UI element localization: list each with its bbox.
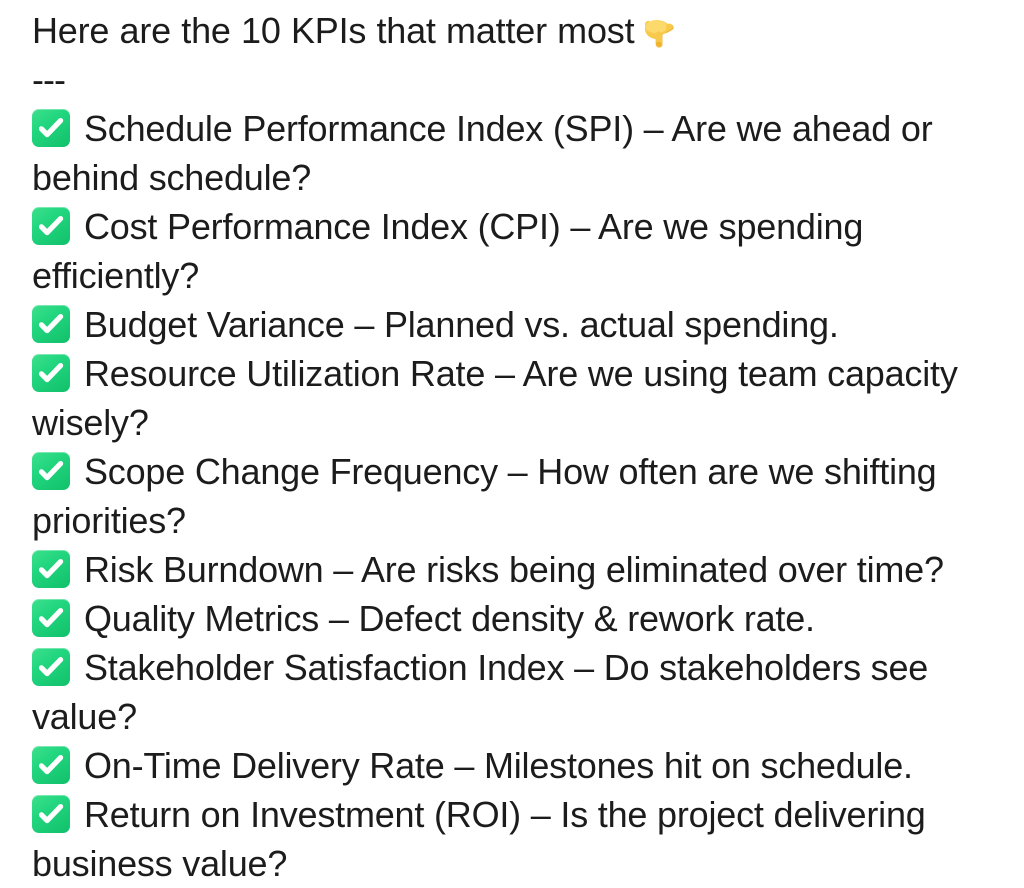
list-item-text: Quality Metrics – Defect density & rewor… xyxy=(84,598,815,639)
list-item-text: Budget Variance – Planned vs. actual spe… xyxy=(84,304,839,345)
list-item-text: Risk Burndown – Are risks being eliminat… xyxy=(84,549,944,590)
list-item-text: Cost Performance Index (CPI) – Are we sp… xyxy=(32,206,863,296)
list-item: On-Time Delivery Rate – Milestones hit o… xyxy=(32,741,996,790)
list-item: Schedule Performance Index (SPI) – Are w… xyxy=(32,104,996,202)
white-check-mark-icon xyxy=(32,746,70,784)
list-item: Quality Metrics – Defect density & rewor… xyxy=(32,594,996,643)
post-headline: Here are the 10 KPIs that matter most xyxy=(32,6,996,55)
list-item-text: On-Time Delivery Rate – Milestones hit o… xyxy=(84,745,913,786)
white-check-mark-icon xyxy=(32,452,70,490)
list-item-text: Return on Investment (ROI) – Is the proj… xyxy=(32,794,926,884)
list-item: Return on Investment (ROI) – Is the proj… xyxy=(32,790,996,888)
white-check-mark-icon xyxy=(32,207,70,245)
text-divider: --- xyxy=(32,55,996,104)
list-item-text: Scope Change Frequency – How often are w… xyxy=(32,451,937,541)
white-check-mark-icon xyxy=(32,354,70,392)
white-check-mark-icon xyxy=(32,599,70,637)
white-check-mark-icon xyxy=(32,795,70,833)
list-item: Scope Change Frequency – How often are w… xyxy=(32,447,996,545)
backhand-index-pointing-down-icon xyxy=(640,10,682,52)
white-check-mark-icon xyxy=(32,648,70,686)
post-headline-text: Here are the 10 KPIs that matter most xyxy=(32,10,634,51)
white-check-mark-icon xyxy=(32,305,70,343)
list-item: Stakeholder Satisfaction Index – Do stak… xyxy=(32,643,996,741)
list-item-text: Stakeholder Satisfaction Index – Do stak… xyxy=(32,647,928,737)
kpi-list: Schedule Performance Index (SPI) – Are w… xyxy=(32,104,996,888)
list-item: Cost Performance Index (CPI) – Are we sp… xyxy=(32,202,996,300)
social-post-body: Here are the 10 KPIs that matter most --… xyxy=(0,0,1024,884)
white-check-mark-icon xyxy=(32,109,70,147)
list-item-text: Schedule Performance Index (SPI) – Are w… xyxy=(32,108,932,198)
list-item: Risk Burndown – Are risks being eliminat… xyxy=(32,545,996,594)
list-item: Budget Variance – Planned vs. actual spe… xyxy=(32,300,996,349)
list-item-text: Resource Utilization Rate – Are we using… xyxy=(32,353,958,443)
list-item: Resource Utilization Rate – Are we using… xyxy=(32,349,996,447)
white-check-mark-icon xyxy=(32,550,70,588)
